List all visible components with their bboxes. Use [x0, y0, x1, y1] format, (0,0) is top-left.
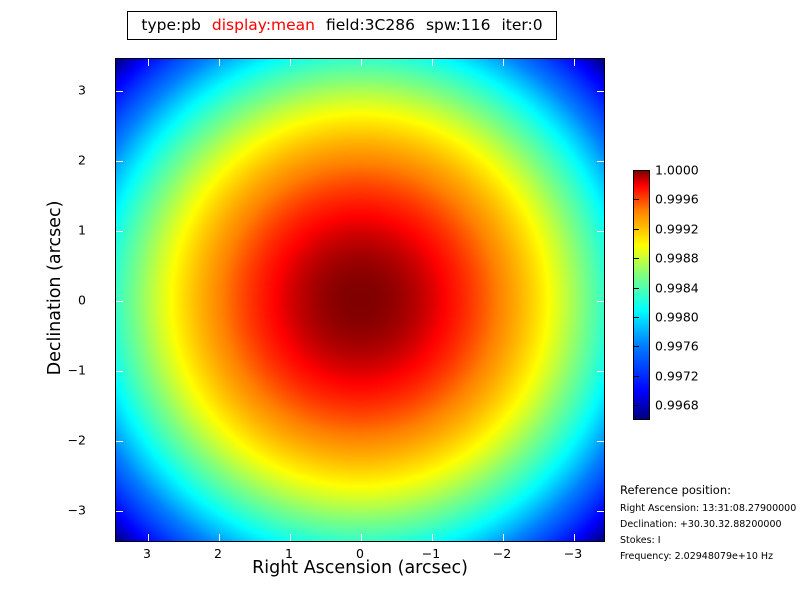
x-axis-tick — [432, 59, 433, 66]
y-axis-tick — [116, 161, 123, 162]
colorbar-tick — [633, 376, 639, 377]
colorbar-gradient — [633, 170, 650, 420]
colorbar-tick-label: 0.9988 — [655, 251, 699, 266]
y-axis-tick — [116, 511, 123, 512]
colorbar-tick — [633, 288, 639, 289]
x-axis-tick — [503, 59, 504, 66]
y-axis-tick — [597, 441, 604, 442]
reference-right-ascension: Right Ascension: 13:31:08.27900000 — [620, 503, 800, 514]
colorbar-tick-label: 0.9976 — [655, 339, 699, 354]
y-axis-tick — [116, 441, 123, 442]
y-axis-tick-label: 3 — [78, 82, 86, 97]
colorbar-tick — [633, 405, 639, 406]
title-item-spw: spw:116 — [426, 18, 491, 34]
y-axis-tick-label: 0 — [78, 293, 86, 308]
x-axis-tick — [290, 534, 291, 541]
y-axis-tick-label: 1 — [78, 222, 86, 237]
x-axis-tick — [503, 534, 504, 541]
x-axis-tick — [361, 59, 362, 66]
colorbar-tick — [633, 317, 639, 318]
colorbar-tick-label: 0.9984 — [655, 280, 699, 295]
colorbar-tick — [633, 258, 639, 259]
y-axis-tick-label: −3 — [68, 503, 86, 518]
y-axis-tick — [116, 371, 123, 372]
colorbar-tick — [633, 199, 639, 200]
y-axis-tick — [116, 301, 123, 302]
x-axis-tick — [574, 534, 575, 541]
colorbar-tick — [633, 170, 639, 171]
colorbar-tick-label: 0.9996 — [655, 192, 699, 207]
y-axis-tick — [116, 91, 123, 92]
title-item-field: field:3C286 — [326, 18, 415, 34]
title-item-display: display:mean — [212, 18, 315, 34]
reference-position-heading: Reference position: — [620, 483, 800, 497]
colorbar[interactable] — [633, 170, 650, 420]
y-axis-label: Declination (arcsec) — [45, 78, 65, 498]
y-axis-tick — [597, 301, 604, 302]
reference-stokes: Stokes: I — [620, 535, 800, 546]
x-axis-tick — [361, 534, 362, 541]
reference-position-block: Reference position: Right Ascension: 13:… — [620, 483, 800, 567]
y-axis-tick-label: 2 — [78, 152, 86, 167]
x-axis-tick — [432, 534, 433, 541]
x-axis-tick — [148, 534, 149, 541]
colorbar-tick — [633, 229, 639, 230]
colorbar-tick-label: 0.9980 — [655, 310, 699, 325]
y-axis-tick — [597, 231, 604, 232]
colorbar-tick-label: 0.9992 — [655, 221, 699, 236]
colorbar-tick-label: 0.9968 — [655, 398, 699, 413]
y-axis-tick — [116, 231, 123, 232]
y-axis-tick — [597, 91, 604, 92]
reference-declination: Declination: +30.30.32.88200000 — [620, 519, 800, 530]
colorbar-tick — [633, 346, 639, 347]
plot-title-bar: type:pb display:mean field:3C286 spw:116… — [127, 11, 557, 40]
y-axis-tick — [597, 161, 604, 162]
y-axis-tick-label: −2 — [68, 433, 86, 448]
title-item-type: type:pb — [141, 18, 201, 34]
title-item-iter: iter:0 — [502, 18, 543, 34]
y-axis-tick — [597, 511, 604, 512]
x-axis-label: Right Ascension (arcsec) — [115, 558, 605, 578]
primary-beam-plot[interactable] — [115, 58, 605, 542]
x-axis-tick — [148, 59, 149, 66]
colorbar-tick-label: 1.0000 — [655, 163, 699, 178]
x-axis-tick — [219, 534, 220, 541]
primary-beam-heatmap — [116, 59, 604, 541]
y-axis-tick — [597, 371, 604, 372]
x-axis-tick — [219, 59, 220, 66]
x-axis-tick — [574, 59, 575, 66]
reference-frequency: Frequency: 2.02948079e+10 Hz — [620, 551, 800, 562]
x-axis-tick — [290, 59, 291, 66]
colorbar-tick-label: 0.9972 — [655, 368, 699, 383]
y-axis-tick-label: −1 — [68, 363, 86, 378]
